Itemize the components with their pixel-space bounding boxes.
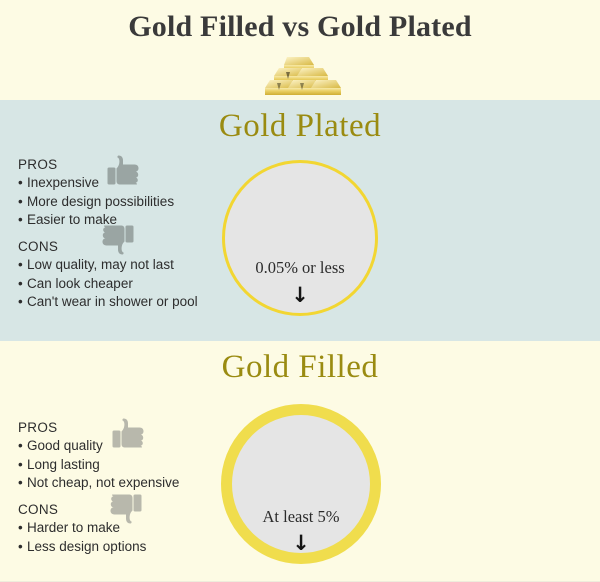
thumbs-down-icon	[108, 494, 142, 524]
down-arrow-icon: ↓	[225, 285, 375, 306]
cons-item: Less design options	[18, 538, 233, 557]
pros-item: Long lasting	[18, 456, 233, 475]
gold-content-label: 0.05% or less	[225, 258, 375, 278]
infographic-root: Gold Filled vs Gold Plated	[0, 0, 600, 582]
gold-content-circle-filled: At least 5% ↓	[221, 404, 381, 564]
pros-item: Not cheap, not expensive	[18, 474, 233, 493]
thumbs-up-icon	[112, 418, 146, 448]
cons-item: Can't wear in shower or pool	[18, 293, 233, 312]
gold-content-label: At least 5%	[232, 507, 370, 527]
cons-item: Can look cheaper	[18, 275, 233, 294]
section-title-gold-plated: Gold Plated	[0, 108, 600, 145]
header-band: Gold Filled vs Gold Plated	[0, 0, 600, 100]
gold-bars-icon	[257, 52, 343, 98]
thumbs-down-icon	[100, 225, 134, 255]
page-title: Gold Filled vs Gold Plated	[0, 10, 600, 44]
cons-item: Low quality, may not last	[18, 256, 233, 275]
down-arrow-icon: ↓	[232, 533, 370, 554]
thumbs-up-icon	[107, 155, 141, 185]
section-title-gold-filled: Gold Filled	[0, 349, 600, 386]
gold-content-circle-plated: 0.05% or less ↓	[222, 160, 378, 316]
pros-item: More design possibilities	[18, 193, 233, 212]
